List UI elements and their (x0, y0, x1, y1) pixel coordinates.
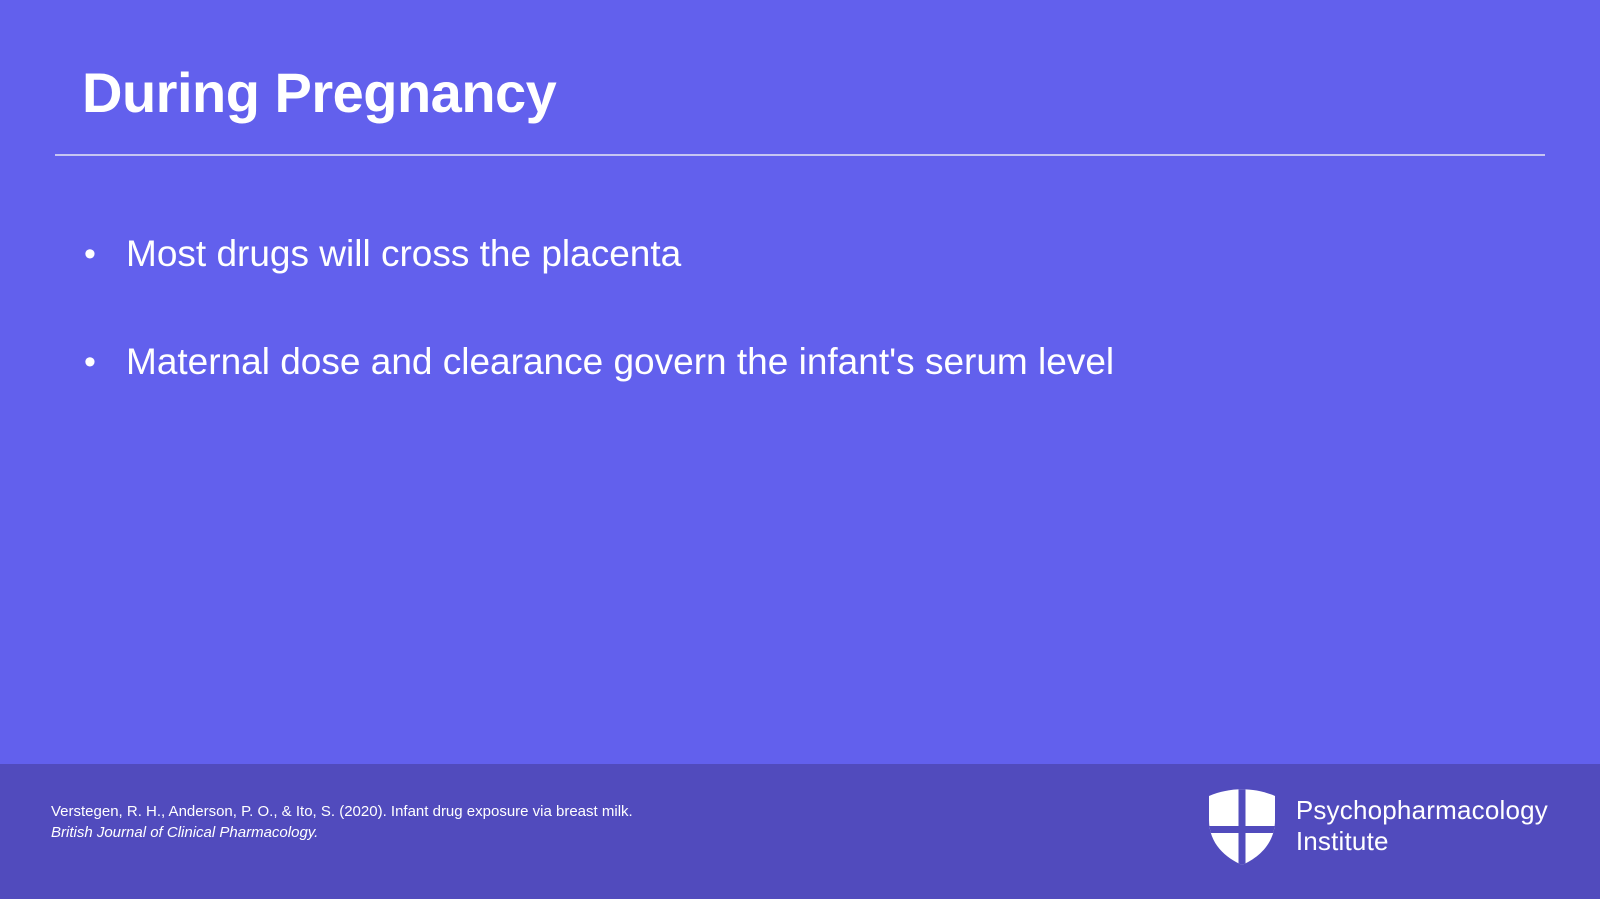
slide-footer: Verstegen, R. H., Anderson, P. O., & Ito… (0, 764, 1600, 899)
bullet-point-icon: • (78, 228, 126, 280)
list-item: • Most drugs will cross the placenta (78, 228, 1518, 280)
list-item-label: Maternal dose and clearance govern the i… (126, 336, 1518, 388)
brand-name-line1: Psychopharmacology (1296, 795, 1548, 825)
title-block: During Pregnancy (82, 62, 1546, 124)
slide: During Pregnancy • Most drugs will cross… (0, 0, 1600, 899)
citation-authors-title: Verstegen, R. H., Anderson, P. O., & Ito… (51, 801, 633, 822)
brand-name: Psychopharmacology Institute (1296, 795, 1548, 856)
shield-quadrant-icon (1206, 786, 1278, 866)
list-item: • Maternal dose and clearance govern the… (78, 336, 1518, 388)
citation-journal: British Journal of Clinical Pharmacology… (51, 822, 633, 843)
title-divider (55, 154, 1545, 156)
citation: Verstegen, R. H., Anderson, P. O., & Ito… (51, 801, 633, 844)
list-item-label: Most drugs will cross the placenta (126, 228, 1518, 280)
page-title: During Pregnancy (82, 62, 1546, 124)
bullet-point-icon: • (78, 336, 126, 388)
brand-logo: Psychopharmacology Institute (1206, 786, 1548, 866)
bullet-list: • Most drugs will cross the placenta • M… (78, 228, 1518, 388)
brand-name-line2: Institute (1296, 826, 1389, 856)
